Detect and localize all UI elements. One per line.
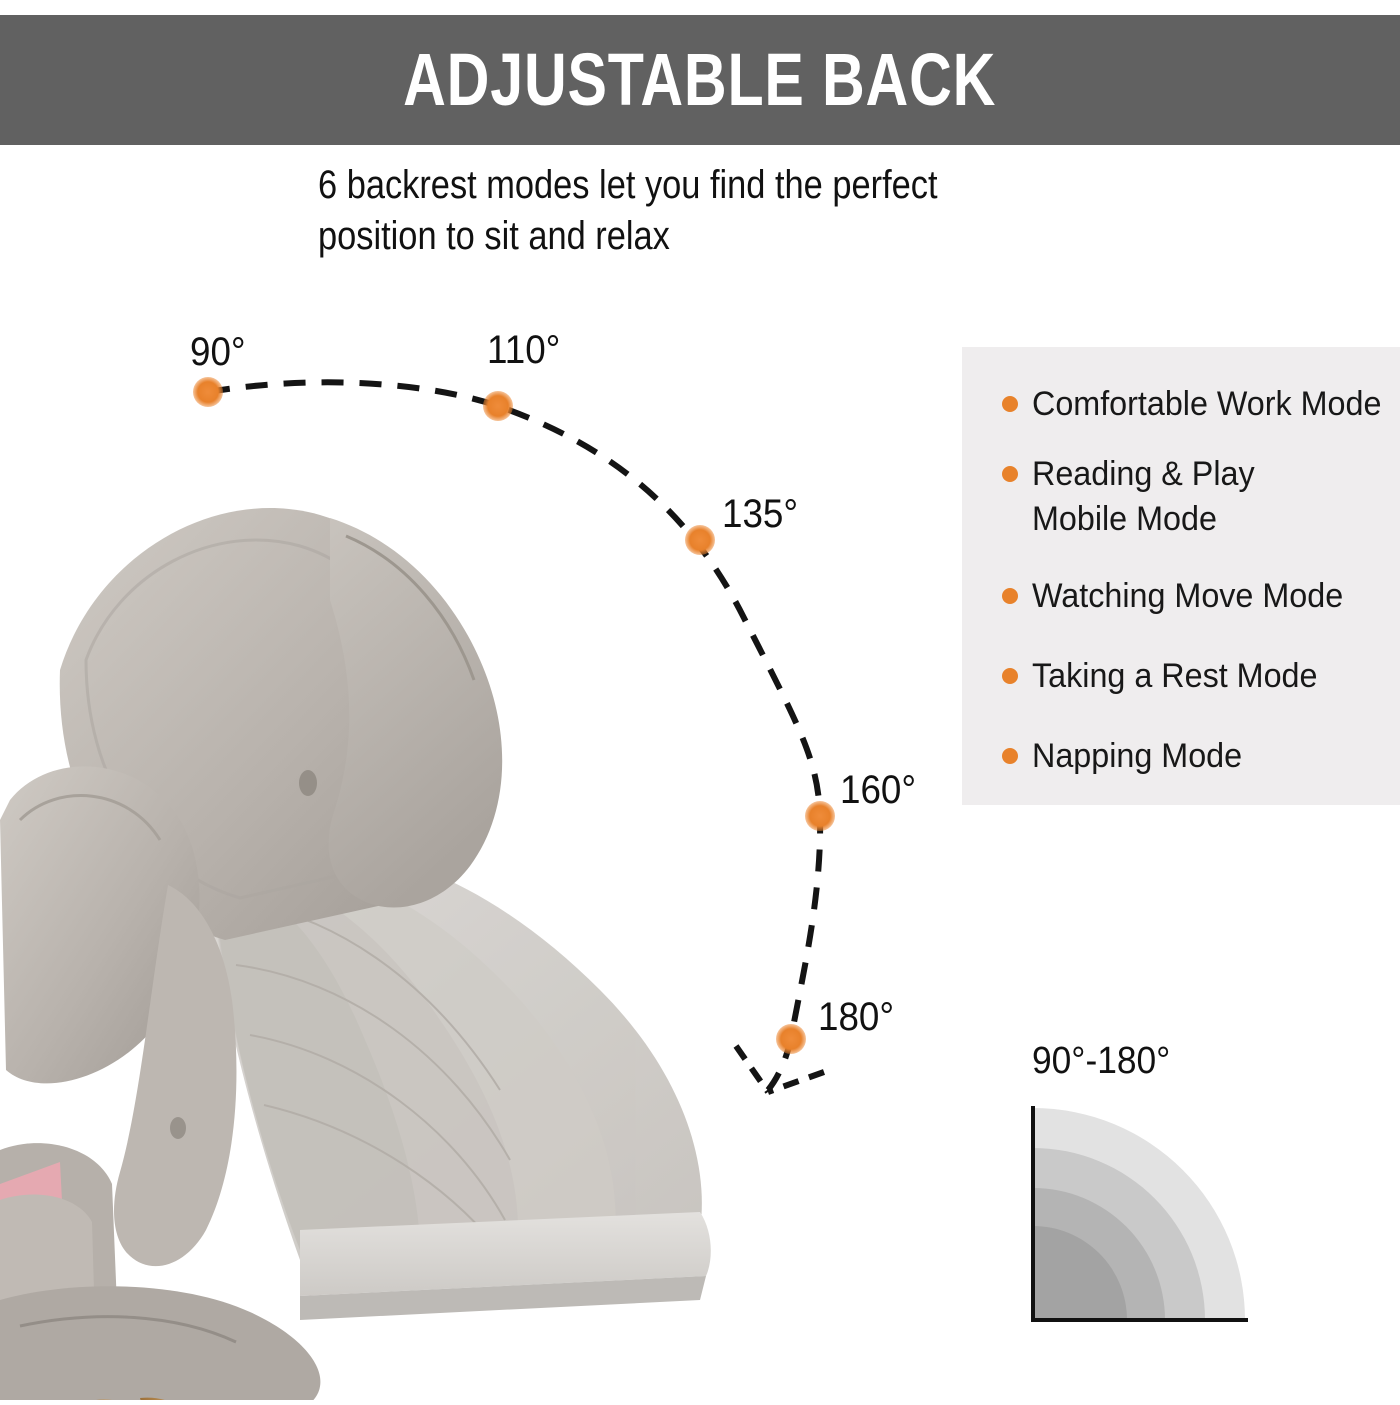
angle-label-180: 180°	[818, 995, 894, 1040]
bullet-dot-icon	[1002, 466, 1018, 482]
feature-label: Comfortable Work Mode	[1032, 382, 1381, 427]
subtitle-text: 6 backrest modes let you find the perfec…	[318, 160, 1040, 262]
bullet-dot-icon	[1002, 588, 1018, 604]
angle-dot-180	[776, 1024, 806, 1054]
bullet-dot-icon	[1002, 396, 1018, 412]
arrow-head-right	[768, 1072, 824, 1092]
list-item: Napping Mode	[1002, 734, 1253, 779]
product-photo-illustration	[0, 300, 760, 1400]
bullet-dot-icon	[1002, 748, 1018, 764]
feature-label: Taking a Rest Mode	[1032, 654, 1317, 699]
list-item: Reading & Play Mobile Mode	[1002, 452, 1266, 542]
angle-range-caption: 90°-180°	[1032, 1040, 1170, 1083]
angle-label-160: 160°	[840, 768, 916, 813]
page-title: ADJUSTABLE BACK	[403, 43, 996, 117]
feature-label: Napping Mode	[1032, 734, 1242, 779]
angle-range-svg	[1000, 1098, 1320, 1338]
feature-label: Watching Move Mode	[1032, 574, 1343, 619]
product-photo	[0, 300, 760, 1400]
feature-list-panel: Comfortable Work Mode Reading & Play Mob…	[962, 347, 1400, 805]
list-item: Comfortable Work Mode	[1002, 382, 1400, 427]
angle-range-diagram: 90°-180°	[1000, 1040, 1340, 1360]
angle-dot-160	[805, 801, 835, 831]
list-item: Watching Move Mode	[1002, 574, 1360, 619]
header-bar: ADJUSTABLE BACK	[0, 15, 1400, 145]
chair-base	[0, 1286, 320, 1400]
feature-label: Reading & Play Mobile Mode	[1032, 452, 1255, 542]
list-item: Taking a Rest Mode	[1002, 654, 1333, 699]
bullet-dot-icon	[1002, 668, 1018, 684]
backrest-bolster	[329, 518, 503, 908]
